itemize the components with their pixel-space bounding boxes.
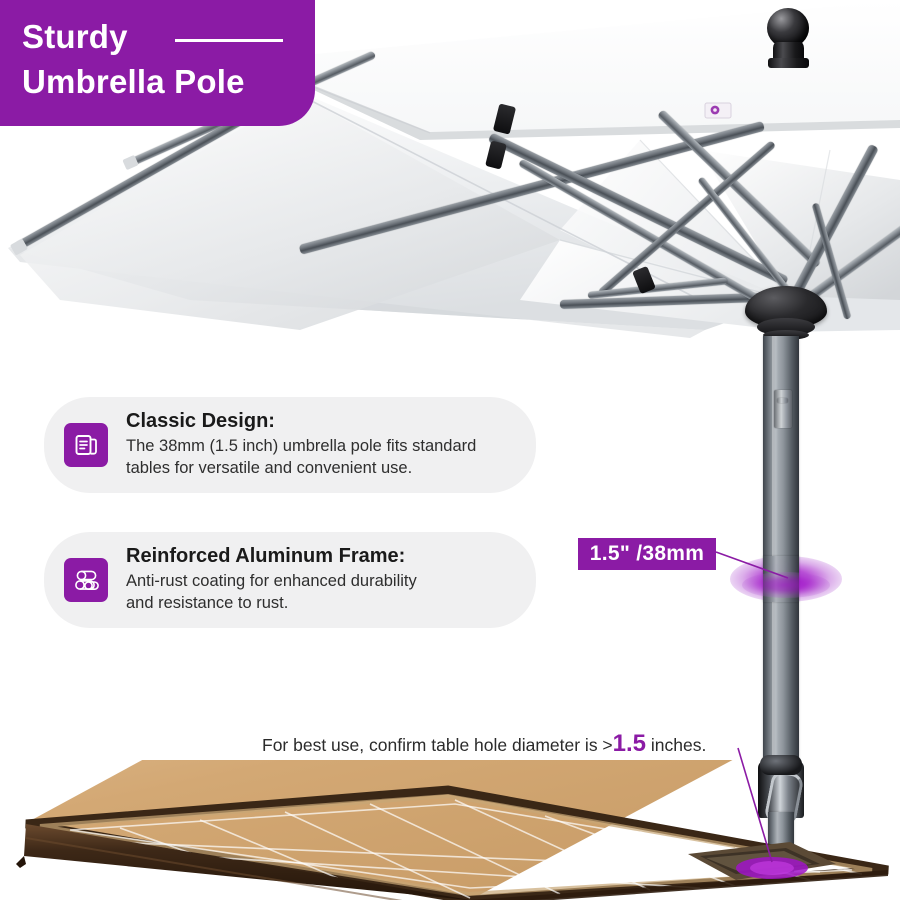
document-icon [64,423,108,467]
diameter-badge-label: 1.5" /38mm [590,542,705,566]
feature-card-classic-design: Classic Design: The 38mm (1.5 inch) umbr… [44,397,536,493]
feature-card-body: Anti-rust coating for enhanced durabilit… [126,571,417,615]
header-banner: Sturdy Umbrella Pole [0,0,315,126]
caption-suffix: inches. [646,735,706,755]
banner-title-line1: Sturdy [22,18,128,56]
feature-card-aluminum-frame: Reinforced Aluminum Frame: Anti-rust coa… [44,532,536,628]
banner-divider-rule [175,39,283,42]
infographic-canvas: Sturdy Umbrella Pole Classic Design: The… [0,0,900,900]
feature-card-text: Reinforced Aluminum Frame: Anti-rust coa… [126,545,439,615]
feature-card-title: Classic Design: [126,410,476,434]
feature-card-text: Classic Design: The 38mm (1.5 inch) umbr… [126,410,498,480]
banner-title-line2: Umbrella Pole [22,63,245,101]
feature-card-body: The 38mm (1.5 inch) umbrella pole fits s… [126,436,476,480]
table-hole-caption: For best use, confirm table hole diamete… [262,730,706,758]
document-icon-glyph [73,432,99,458]
tube-stack-icon-glyph [73,567,100,594]
caption-highlight: 1.5 [613,730,646,757]
caption-prefix: For best use, confirm table hole diamete… [262,735,613,755]
diameter-badge: 1.5" /38mm [578,538,716,570]
tube-stack-icon [64,558,108,602]
feature-card-title: Reinforced Aluminum Frame: [126,545,417,569]
